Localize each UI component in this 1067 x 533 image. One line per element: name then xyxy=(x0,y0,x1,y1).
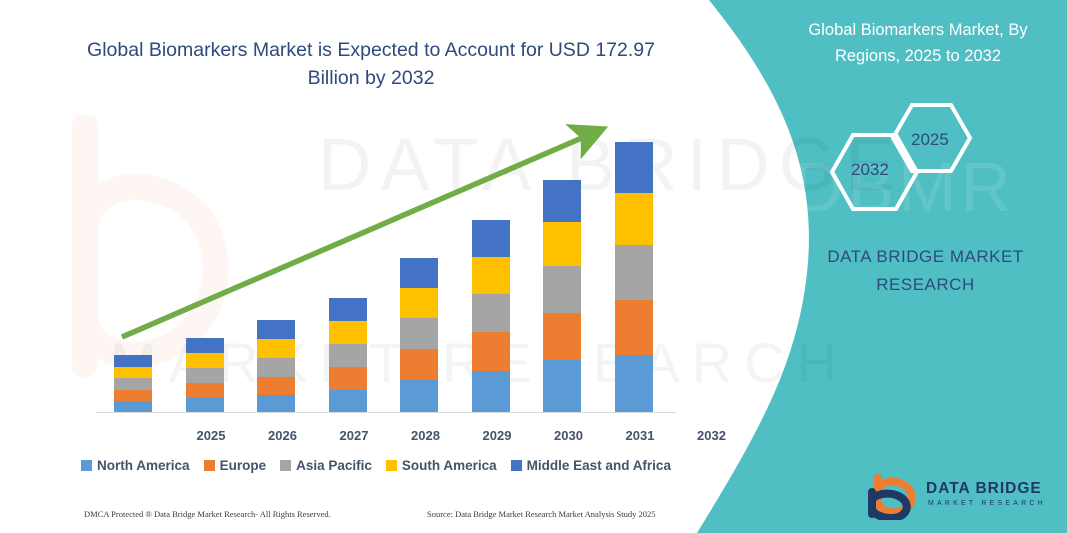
footer-copyright: DMCA Protected ® Data Bridge Market Rese… xyxy=(84,509,331,519)
legend-item-south-america[interactable]: South America xyxy=(386,458,497,473)
bar-segment xyxy=(472,220,510,257)
bar-2025 xyxy=(114,355,152,412)
bar-segment xyxy=(186,368,224,383)
bar-segment xyxy=(543,313,581,360)
panel-title: Global Biomarkers Market, By Regions, 20… xyxy=(778,17,1058,69)
bar-segment xyxy=(472,332,510,371)
bar-segment xyxy=(186,383,224,398)
bar-2031 xyxy=(543,180,581,412)
footer-source: Source: Data Bridge Market Research Mark… xyxy=(427,509,656,519)
bar-2030 xyxy=(472,220,510,412)
legend-label: Middle East and Africa xyxy=(527,458,671,473)
bar-segment xyxy=(472,294,510,332)
bar-2029 xyxy=(400,258,438,412)
bar-2032 xyxy=(615,142,653,412)
bar-2027 xyxy=(257,320,295,412)
bar-segment xyxy=(257,320,295,339)
bar-segment xyxy=(186,338,224,353)
bar-segment xyxy=(400,349,438,380)
bar-2028 xyxy=(329,298,367,412)
bar-segment xyxy=(186,398,224,412)
legend-swatch-icon xyxy=(204,460,215,471)
x-axis-label-2027: 2027 xyxy=(319,428,389,443)
legend-label: Asia Pacific xyxy=(296,458,372,473)
bar-segment xyxy=(114,367,152,378)
x-axis-label-2032: 2032 xyxy=(677,428,747,443)
bar-segment xyxy=(615,245,653,300)
infographic-canvas: DATA BRIDGE MARKET RESEARCH Global Bioma… xyxy=(0,0,1067,533)
x-axis-label-2028: 2028 xyxy=(391,428,461,443)
bar-segment xyxy=(257,395,295,412)
hexagon-group xyxy=(820,95,1020,215)
bar-segment xyxy=(257,377,295,395)
legend-label: South America xyxy=(402,458,497,473)
x-axis-line xyxy=(96,412,676,413)
legend-swatch-icon xyxy=(81,460,92,471)
x-axis-label-2031: 2031 xyxy=(605,428,675,443)
bar-segment xyxy=(400,318,438,349)
bar-segment xyxy=(615,355,653,412)
legend-swatch-icon xyxy=(511,460,522,471)
bar-segment xyxy=(472,371,510,412)
bar-segment xyxy=(543,360,581,412)
bar-segment xyxy=(543,180,581,222)
stacked-bar-chart xyxy=(96,120,676,412)
logo-wordmark: DATA BRIDGE xyxy=(926,480,1042,498)
legend-item-europe[interactable]: Europe xyxy=(204,458,267,473)
hexagon-2032-label: 2032 xyxy=(851,160,889,180)
bar-segment xyxy=(400,380,438,412)
bar-segment xyxy=(615,300,653,355)
logo-subtitle: MARKET RESEARCH xyxy=(928,500,1046,507)
bar-segment xyxy=(114,390,152,401)
legend-item-north-america[interactable]: North America xyxy=(81,458,190,473)
bar-segment xyxy=(472,257,510,294)
legend-label: Europe xyxy=(220,458,267,473)
bar-segment xyxy=(400,288,438,318)
bar-segment xyxy=(329,367,367,390)
x-axis-label-2025: 2025 xyxy=(176,428,246,443)
chart-legend: North AmericaEuropeAsia PacificSouth Ame… xyxy=(76,458,676,473)
bar-2026 xyxy=(186,338,224,412)
legend-item-asia-pacific[interactable]: Asia Pacific xyxy=(280,458,372,473)
bar-segment xyxy=(329,321,367,344)
x-axis-label-2026: 2026 xyxy=(248,428,318,443)
panel-brand-text: DATA BRIDGE MARKET RESEARCH xyxy=(793,243,1058,299)
legend-label: North America xyxy=(97,458,190,473)
legend-item-middle-east-and-africa[interactable]: Middle East and Africa xyxy=(511,458,671,473)
bar-segment xyxy=(257,339,295,358)
legend-swatch-icon xyxy=(280,460,291,471)
bar-segment xyxy=(186,353,224,368)
bar-segment xyxy=(400,258,438,288)
bar-segment xyxy=(329,298,367,321)
legend-swatch-icon xyxy=(386,460,397,471)
bar-segment xyxy=(329,344,367,367)
bar-segment xyxy=(543,222,581,266)
bar-segment xyxy=(114,378,152,390)
bar-segment xyxy=(329,390,367,412)
bar-segment xyxy=(543,266,581,313)
page-title: Global Biomarkers Market is Expected to … xyxy=(66,36,676,92)
bar-segment xyxy=(615,193,653,245)
x-axis-label-2030: 2030 xyxy=(534,428,604,443)
bar-segment xyxy=(615,142,653,193)
bar-segment xyxy=(114,355,152,367)
hexagon-2025-label: 2025 xyxy=(911,130,949,150)
bar-segment xyxy=(257,358,295,377)
x-axis-label-2029: 2029 xyxy=(462,428,532,443)
bar-segment xyxy=(114,401,152,412)
